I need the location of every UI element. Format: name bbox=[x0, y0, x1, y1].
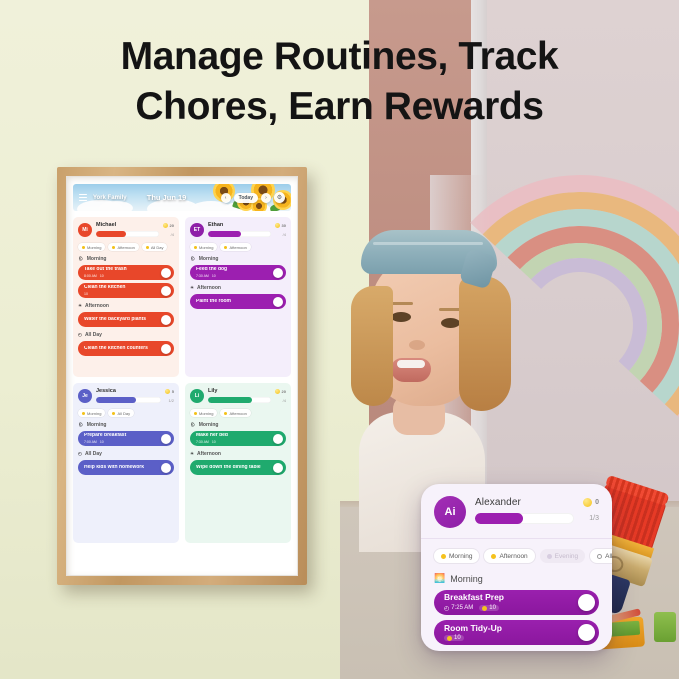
avatar[interactable]: Mi bbox=[78, 223, 92, 237]
coin-icon bbox=[583, 498, 592, 507]
sunrise-icon: 🌦 bbox=[190, 422, 196, 428]
progress-fraction: /4 bbox=[275, 232, 286, 237]
coin-value: 0 bbox=[595, 499, 599, 506]
member-card[interactable]: ETEthan30/4MorningAfternoon🌦MorningFeed … bbox=[185, 217, 291, 377]
sun-icon: ☀ bbox=[78, 303, 82, 309]
sun-icon bbox=[491, 554, 496, 559]
section-header: ☀Afternoon bbox=[78, 303, 174, 309]
coin-counter: 20 bbox=[275, 389, 286, 394]
task-text: Wipe down the dining table bbox=[196, 465, 273, 471]
task-row[interactable]: Clean the kitchen10 bbox=[78, 283, 174, 298]
coin-value: 5 bbox=[172, 389, 174, 394]
today-button[interactable]: Today bbox=[234, 193, 258, 203]
coin-value: 20 bbox=[282, 389, 286, 394]
task-meta: 7:30 AM10 bbox=[196, 274, 273, 278]
task-points: 10 bbox=[212, 274, 216, 278]
progress-fraction: /4 bbox=[275, 398, 286, 403]
chip-label: Morning bbox=[449, 553, 472, 560]
section-header: ☀Afternoon bbox=[190, 451, 286, 457]
avatar[interactable]: Ai bbox=[434, 496, 466, 528]
member-stats: 51/2 bbox=[165, 389, 174, 403]
member-card-header: LiLily20/4 bbox=[190, 389, 286, 403]
headline-line-2: Chores, Earn Rewards bbox=[0, 82, 679, 132]
chip-label: Morning bbox=[199, 245, 213, 250]
chip-label: Afternoon bbox=[229, 245, 246, 250]
coin-icon bbox=[447, 636, 452, 641]
task-time: 7:00 AM bbox=[84, 440, 97, 444]
coin-icon bbox=[165, 389, 170, 394]
poster-canvas: York Family Thu Jun 19 ‹ Today › ⚙ MiMic… bbox=[66, 176, 298, 576]
chip-label: Afternoon bbox=[229, 411, 246, 416]
time-filter-chips: MorningAfternoon bbox=[190, 243, 286, 251]
current-date-label: Thu Jun 19 bbox=[147, 193, 187, 202]
task-points: 10 bbox=[444, 635, 464, 641]
eye-right bbox=[441, 318, 460, 328]
gear-icon[interactable]: ⚙ bbox=[274, 192, 285, 203]
member-detail-card: Ai Alexander 0 1/3 MorningAfternoonEveni… bbox=[421, 484, 612, 651]
chip-label: All Day bbox=[151, 245, 164, 250]
task-title: Feed the dog bbox=[196, 267, 273, 273]
section-label: All Day bbox=[85, 332, 102, 338]
task-text: Prepare breakfast7:00 AM10 bbox=[84, 433, 161, 444]
wooden-picture-frame: York Family Thu Jun 19 ‹ Today › ⚙ MiMic… bbox=[57, 167, 307, 585]
sun-icon bbox=[194, 246, 197, 249]
chip-label: Morning bbox=[87, 411, 101, 416]
progress-bar bbox=[96, 397, 161, 403]
task-meta: ◴7:25 AM10 bbox=[444, 605, 578, 612]
task-complete-toggle[interactable] bbox=[161, 463, 171, 473]
task-title: Clean the kitchen bbox=[84, 285, 161, 291]
coin-icon bbox=[163, 223, 168, 228]
sun-icon bbox=[82, 246, 85, 249]
filter-chip-morning[interactable]: Morning bbox=[78, 243, 105, 251]
task-title: Water the backyard plants bbox=[84, 317, 161, 323]
task-text: Make her bed7:30 AM10 bbox=[196, 433, 273, 444]
time-filter-chips: MorningAfternoon bbox=[190, 409, 286, 417]
progress-bar-fill bbox=[208, 397, 252, 403]
task-complete-toggle[interactable] bbox=[161, 344, 171, 354]
progress-bar bbox=[475, 513, 574, 524]
progress-bar-fill bbox=[208, 231, 241, 237]
section-header: ◴All Day bbox=[78, 451, 174, 457]
filter-chip-afternoon[interactable]: Afternoon bbox=[484, 549, 534, 563]
avatar[interactable]: Li bbox=[190, 389, 204, 403]
task-meta: 7:30 AM10 bbox=[196, 440, 273, 444]
task-complete-toggle[interactable] bbox=[273, 463, 283, 473]
member-stats: 20/4 bbox=[275, 389, 286, 403]
member-card-header: JeJessica51/2 bbox=[78, 389, 174, 403]
progress-bar bbox=[208, 231, 271, 237]
sunrise-icon: 🌦 bbox=[190, 256, 196, 262]
section-label: Morning bbox=[450, 574, 483, 584]
task-row[interactable]: Prepare breakfast7:00 AM10 bbox=[78, 431, 174, 446]
member-card-header: ETEthan30/4 bbox=[190, 223, 286, 237]
avatar[interactable]: Je bbox=[78, 389, 92, 403]
moon-icon bbox=[547, 554, 552, 559]
filter-chip-afternoon[interactable]: Afternoon bbox=[220, 243, 250, 251]
progress-bar bbox=[96, 231, 159, 237]
filter-chip-afternoon[interactable]: Afternoon bbox=[220, 409, 250, 417]
sunrise-icon: 🌦 bbox=[78, 256, 84, 262]
coin-counter: 20 bbox=[163, 223, 174, 228]
member-stats: 20/4 bbox=[163, 223, 174, 237]
task-complete-toggle[interactable] bbox=[161, 268, 171, 278]
clock-icon: ◴ bbox=[78, 451, 82, 457]
avatar[interactable]: ET bbox=[190, 223, 204, 237]
task-title: Clean the kitchen counters bbox=[84, 346, 161, 352]
eye-left bbox=[391, 312, 411, 322]
member-name: Ethan bbox=[208, 223, 271, 229]
progress-bar-fill bbox=[96, 397, 136, 403]
member-card-body: Lily bbox=[208, 389, 271, 403]
task-points: 10 bbox=[100, 274, 104, 278]
section-label: Morning bbox=[87, 422, 107, 428]
member-card-header: MiMichael20/4 bbox=[78, 223, 174, 237]
task-text: Water the backyard plants bbox=[84, 317, 161, 323]
task-row[interactable]: Clean the kitchen counters bbox=[78, 341, 174, 356]
member-card[interactable]: LiLily20/4MorningAfternoon🌦MorningMake h… bbox=[185, 383, 291, 543]
task-title: Prepare breakfast bbox=[84, 433, 161, 439]
clock-icon: ◴ bbox=[444, 605, 449, 612]
task-text: Room Tidy-Up10 bbox=[444, 624, 578, 641]
task-meta: 7:00 AM10 bbox=[84, 440, 161, 444]
sun-icon bbox=[112, 246, 115, 249]
task-points: 10 bbox=[479, 605, 499, 611]
filter-chip-all-day[interactable]: All Day bbox=[590, 549, 612, 563]
task-time: 8:00 AM bbox=[84, 274, 97, 278]
task-title: Help kids with homework bbox=[84, 465, 161, 471]
section-label: Morning bbox=[199, 422, 219, 428]
member-name: Alexander bbox=[475, 497, 574, 508]
section-label: Afternoon bbox=[197, 285, 221, 291]
coin-icon bbox=[275, 389, 280, 394]
time-filter-chips: MorningAfternoonEveningAll Day bbox=[434, 549, 599, 563]
section-header: 🌦Morning bbox=[78, 256, 174, 262]
sun-icon bbox=[224, 412, 227, 415]
detail-card-header: Ai Alexander 0 1/3 bbox=[434, 496, 599, 528]
task-title: Paint the room bbox=[196, 299, 273, 305]
sun-icon bbox=[194, 412, 197, 415]
progress-fraction: 1/2 bbox=[165, 398, 174, 403]
time-filter-chips: MorningAfternoonAll Day bbox=[78, 243, 174, 251]
task-meta: 10 bbox=[84, 292, 161, 296]
filter-chip-morning[interactable]: Morning bbox=[434, 549, 479, 563]
filter-chip-afternoon[interactable]: Afternoon bbox=[108, 243, 138, 251]
clock-icon bbox=[146, 246, 149, 249]
task-row[interactable]: Water the backyard plants bbox=[78, 312, 174, 327]
task-points: 10 bbox=[212, 440, 216, 444]
task-complete-toggle[interactable] bbox=[273, 297, 283, 307]
task-points: 10 bbox=[100, 440, 104, 444]
member-name: Michael bbox=[96, 223, 159, 229]
task-row[interactable]: Make her bed7:30 AM10 bbox=[190, 431, 286, 446]
filter-chip-all-day[interactable]: All Day bbox=[108, 409, 134, 417]
coin-value: 30 bbox=[282, 223, 286, 228]
chip-label: Evening bbox=[555, 553, 579, 560]
member-card-body: Jessica bbox=[96, 389, 161, 403]
task-complete-toggle[interactable] bbox=[273, 434, 283, 444]
member-card[interactable]: MiMichael20/4MorningAfternoonAll Day🌦Mor… bbox=[73, 217, 179, 377]
chip-label: All Day bbox=[117, 411, 130, 416]
task-time-value: 7:25 AM bbox=[451, 605, 473, 611]
member-card[interactable]: JeJessica51/2MorningAll Day🌦MorningPrepa… bbox=[73, 383, 179, 543]
task-row[interactable]: Paint the room bbox=[190, 294, 286, 309]
sunrise-icon bbox=[441, 554, 446, 559]
task-complete-toggle[interactable] bbox=[578, 594, 595, 611]
task-meta: 8:00 AM10 bbox=[84, 274, 161, 278]
chip-label: Morning bbox=[199, 411, 213, 416]
task-title: Take out the trash bbox=[84, 267, 161, 273]
task-row[interactable]: Feed the dog7:30 AM10 bbox=[190, 265, 286, 280]
family-name: York Family bbox=[93, 195, 127, 201]
task-title: Breakfast Prep bbox=[444, 593, 578, 602]
filter-chip-morning[interactable]: Morning bbox=[190, 243, 217, 251]
chip-label: Afternoon bbox=[499, 553, 527, 560]
member-stats: 30/4 bbox=[275, 223, 286, 237]
progress-bar-fill bbox=[96, 231, 126, 237]
member-name: Lily bbox=[208, 389, 271, 395]
coin-icon bbox=[482, 606, 487, 611]
member-name: Jessica bbox=[96, 389, 161, 395]
section-header: 🌦Morning bbox=[190, 422, 286, 428]
hair-left bbox=[351, 286, 393, 406]
filter-chip-evening[interactable]: Evening bbox=[540, 549, 586, 563]
task-title: Room Tidy-Up bbox=[444, 624, 578, 633]
section-header: 🌦Morning bbox=[190, 256, 286, 262]
member-card-body: Ethan bbox=[208, 223, 271, 237]
sun-icon: ☀ bbox=[190, 451, 194, 457]
mouth bbox=[391, 358, 431, 382]
clock-icon: ◴ bbox=[78, 332, 82, 338]
coin-counter: 0 bbox=[583, 498, 599, 507]
task-row[interactable]: Breakfast Prep◴7:25 AM10 bbox=[434, 590, 599, 615]
sunrise-icon: 🌅 bbox=[434, 573, 445, 584]
next-day-button[interactable]: › bbox=[261, 193, 271, 203]
task-complete-toggle[interactable] bbox=[273, 268, 283, 278]
filter-chip-morning[interactable]: Morning bbox=[190, 409, 217, 417]
hamburger-icon[interactable] bbox=[79, 194, 87, 201]
section-header: 🌦Morning bbox=[78, 422, 174, 428]
chip-label: Morning bbox=[87, 245, 101, 250]
sunrise-icon: 🌦 bbox=[78, 422, 84, 428]
task-complete-toggle[interactable] bbox=[161, 434, 171, 444]
task-text: Clean the kitchen counters bbox=[84, 346, 161, 352]
progress-fraction: /4 bbox=[163, 232, 174, 237]
chip-label: Afternoon bbox=[117, 245, 134, 250]
task-complete-toggle[interactable] bbox=[161, 286, 171, 296]
prev-day-button[interactable]: ‹ bbox=[221, 193, 231, 203]
coin-value: 20 bbox=[170, 223, 174, 228]
task-complete-toggle[interactable] bbox=[161, 315, 171, 325]
task-title: Wipe down the dining table bbox=[196, 465, 273, 471]
task-text: Help kids with homework bbox=[84, 465, 161, 471]
section-label: Afternoon bbox=[197, 451, 221, 457]
poster-header-banner: York Family Thu Jun 19 ‹ Today › ⚙ bbox=[73, 184, 291, 211]
member-grid: MiMichael20/4MorningAfternoonAll Day🌦Mor… bbox=[73, 217, 291, 543]
task-points: 10 bbox=[84, 292, 88, 296]
section-label: Afternoon bbox=[85, 303, 109, 309]
task-text: Feed the dog7:30 AM10 bbox=[196, 267, 273, 278]
section-header: 🌅 Morning bbox=[434, 573, 599, 584]
section-label: Morning bbox=[199, 256, 219, 262]
task-meta: 10 bbox=[444, 635, 578, 641]
coin-icon bbox=[275, 223, 280, 228]
task-text: Take out the trash8:00 AM10 bbox=[84, 267, 161, 278]
nose bbox=[409, 340, 425, 350]
chip-label: All Day bbox=[605, 553, 612, 560]
task-points-value: 10 bbox=[454, 635, 461, 641]
date-navigation: ‹ Today › ⚙ bbox=[221, 192, 285, 203]
sun-icon bbox=[224, 246, 227, 249]
task-row[interactable]: Room Tidy-Up10 bbox=[434, 620, 599, 645]
filter-chip-all-day[interactable]: All Day bbox=[142, 243, 168, 251]
filter-chip-morning[interactable]: Morning bbox=[78, 409, 105, 417]
task-time: 7:30 AM bbox=[196, 274, 209, 278]
hair-right bbox=[459, 276, 511, 411]
clock-icon bbox=[597, 554, 602, 559]
progress-bar bbox=[208, 397, 271, 403]
task-title: Make her bed bbox=[196, 433, 273, 439]
section-label: All Day bbox=[85, 451, 102, 457]
coin-counter: 5 bbox=[165, 389, 174, 394]
time-filter-chips: MorningAll Day bbox=[78, 409, 174, 417]
task-list: Breakfast Prep◴7:25 AM10Room Tidy-Up10 bbox=[434, 590, 599, 645]
divider bbox=[421, 538, 612, 539]
progress-bar-fill bbox=[475, 513, 523, 524]
task-time: ◴7:25 AM bbox=[444, 605, 473, 612]
task-row[interactable]: Wipe down the dining table bbox=[190, 460, 286, 475]
sun-icon bbox=[82, 412, 85, 415]
task-time: 7:30 AM bbox=[196, 440, 209, 444]
task-text: Clean the kitchen10 bbox=[84, 285, 161, 296]
task-points-value: 10 bbox=[489, 605, 496, 611]
task-text: Paint the room bbox=[196, 299, 273, 305]
coin-counter: 30 bbox=[275, 223, 286, 228]
sun-icon: ☀ bbox=[190, 285, 194, 291]
clock-icon bbox=[112, 412, 115, 415]
section-label: Morning bbox=[87, 256, 107, 262]
page-title: Manage Routines, Track Chores, Earn Rewa… bbox=[0, 32, 679, 132]
progress-fraction: 1/3 bbox=[583, 515, 599, 522]
task-row[interactable]: Take out the trash8:00 AM10 bbox=[78, 265, 174, 280]
headline-line-1: Manage Routines, Track bbox=[0, 32, 679, 82]
task-text: Breakfast Prep◴7:25 AM10 bbox=[444, 593, 578, 611]
section-header: ☀Afternoon bbox=[190, 285, 286, 291]
section-header: ◴All Day bbox=[78, 332, 174, 338]
task-complete-toggle[interactable] bbox=[578, 624, 595, 641]
member-card-body: Michael bbox=[96, 223, 159, 237]
task-row[interactable]: Help kids with homework bbox=[78, 460, 174, 475]
green-block-toy bbox=[654, 612, 676, 642]
